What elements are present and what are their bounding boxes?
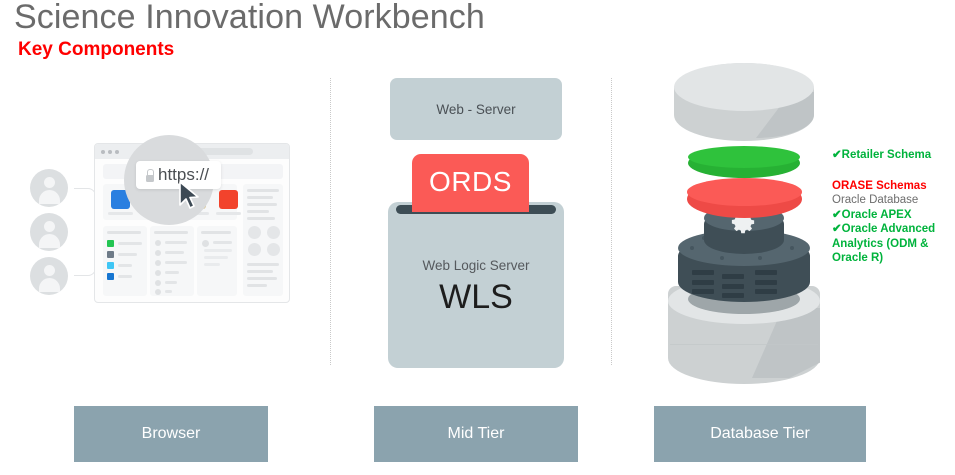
- list-item: [118, 275, 132, 278]
- db-red-disc-face: [687, 178, 802, 206]
- list-item: [204, 249, 232, 252]
- legend-spacer: [832, 163, 952, 179]
- legend-item-label: Oracle Advanced Analytics (ODM & Oracle …: [832, 223, 935, 264]
- db-engine-vent: [755, 270, 777, 275]
- list-item: [204, 263, 220, 266]
- legend-item-label: Oracle APEX: [842, 209, 912, 221]
- tier-bar-browser[interactable]: Browser: [74, 406, 268, 462]
- slide-canvas: Science Innovation Workbench Key Compone…: [0, 0, 955, 475]
- window-dot-icon: [108, 150, 112, 154]
- sidebar-circle-icon: [248, 243, 261, 256]
- content-panel: [197, 226, 237, 296]
- legend-item-retailer-schema: ✔Retailer Schema: [832, 148, 952, 163]
- db-engine-bolt: [720, 256, 724, 260]
- bullet-icon: [155, 280, 161, 286]
- legend-item-label: ORASE Schemas: [832, 180, 927, 192]
- sidebar-line: [247, 210, 269, 213]
- list-swatch: [107, 240, 114, 247]
- web-server-label: Web - Server: [436, 102, 515, 117]
- bullet-icon: [155, 250, 161, 256]
- list-item: [165, 241, 187, 244]
- db-engine-vent: [755, 280, 777, 285]
- list-item: [165, 261, 187, 264]
- list-item: [165, 271, 179, 274]
- user-avatar-icon: [30, 213, 68, 251]
- sidebar-line: [247, 277, 277, 280]
- legend-item-oracle-database: Oracle Database: [832, 193, 952, 208]
- bullet-icon: [155, 289, 161, 295]
- sidebar-circle-icon: [248, 226, 261, 239]
- sidebar-line: [247, 196, 273, 199]
- window-dot-icon: [101, 150, 105, 154]
- db-engine-vent: [692, 270, 714, 275]
- panel-header-line: [154, 231, 188, 234]
- ords-card: ORDS: [412, 154, 529, 210]
- cursor-arrow-icon: [178, 181, 200, 209]
- panel-header-line: [107, 231, 141, 234]
- list-swatch: [107, 273, 114, 280]
- ords-card-inserted-part: [412, 203, 529, 212]
- wls-acronym: WLS: [388, 278, 564, 317]
- lock-icon: [144, 169, 155, 182]
- ords-label: ORDS: [429, 166, 512, 198]
- list-swatch: [107, 262, 114, 269]
- database-stack-illustration: [660, 58, 830, 378]
- db-base-seam: [670, 344, 818, 345]
- sidebar-circle-icon: [267, 226, 280, 239]
- db-top-cap-face: [674, 63, 814, 111]
- user-avatar-icon: [30, 169, 68, 207]
- user-avatar-icon: [30, 257, 68, 295]
- db-engine-bolt: [758, 256, 762, 260]
- page-title: Science Innovation Workbench: [14, 0, 485, 37]
- tier-bar-mid-tier[interactable]: Mid Tier: [374, 406, 578, 462]
- list-item: [118, 264, 132, 267]
- content-panel: [103, 226, 147, 296]
- bullet-icon: [155, 260, 161, 266]
- list-item: [165, 281, 177, 284]
- tier-bar-database-tier[interactable]: Database Tier: [654, 406, 866, 462]
- tile-caption: [216, 212, 241, 215]
- db-engine-vent: [755, 289, 777, 294]
- sidebar-line: [247, 284, 267, 287]
- legend-item-orase-schemas: ORASE Schemas: [832, 179, 952, 194]
- db-engine-vent: [692, 280, 714, 285]
- sidebar-line: [247, 270, 273, 273]
- bullet-icon: [202, 240, 209, 247]
- legend-item-oracle-apex: ✔Oracle APEX: [832, 208, 952, 223]
- page-subtitle: Key Components: [18, 39, 174, 61]
- list-item: [118, 253, 137, 256]
- db-engine-vent: [692, 289, 714, 294]
- web-server-box: Web - Server: [390, 78, 562, 140]
- legend-item-oracle-advanced-analytics: ✔Oracle Advanced Analytics (ODM & Oracle…: [832, 222, 952, 266]
- db-engine-vent: [722, 284, 744, 289]
- window-dot-icon: [115, 150, 119, 154]
- tier-bar-label: Browser: [142, 425, 201, 443]
- checkmark-icon: ✔: [832, 223, 842, 235]
- db-engine-bolt: [790, 246, 794, 250]
- tier-bar-label: Mid Tier: [448, 425, 505, 443]
- checkmark-icon: ✔: [832, 209, 842, 221]
- tile-caption: [108, 212, 133, 215]
- db-engine-vent: [722, 293, 744, 298]
- list-item: [213, 241, 232, 244]
- db-engine-bolt: [690, 246, 694, 250]
- tier-bar-label: Database Tier: [710, 425, 810, 443]
- list-item: [204, 256, 228, 259]
- db-engine-vent: [722, 274, 744, 279]
- column-divider-1: [330, 78, 331, 365]
- panel-header-line: [201, 231, 231, 234]
- sidebar-line: [247, 263, 279, 266]
- legend: ✔Retailer Schema ORASE Schemas Oracle Da…: [832, 148, 952, 266]
- list-item: [165, 251, 184, 254]
- list-item: [118, 242, 142, 245]
- bullet-icon: [155, 240, 161, 246]
- legend-item-label: Oracle Database: [832, 194, 918, 206]
- checkmark-icon: ✔: [832, 149, 842, 161]
- sidebar-line: [247, 217, 275, 220]
- browser-illustration: https://: [22, 135, 312, 325]
- list-swatch: [107, 251, 114, 258]
- legend-item-label: Retailer Schema: [842, 149, 932, 161]
- app-tile-red: [219, 190, 238, 209]
- sidebar-circle-icon: [267, 243, 280, 256]
- list-item: [165, 290, 172, 293]
- db-green-disc-face: [688, 146, 800, 168]
- column-divider-2: [611, 78, 612, 365]
- wls-label: Web Logic Server: [388, 258, 564, 273]
- bullet-icon: [155, 270, 161, 276]
- sidebar-line: [247, 203, 277, 206]
- avatar-bracket-connector: [74, 188, 96, 276]
- sidebar-line: [247, 189, 279, 192]
